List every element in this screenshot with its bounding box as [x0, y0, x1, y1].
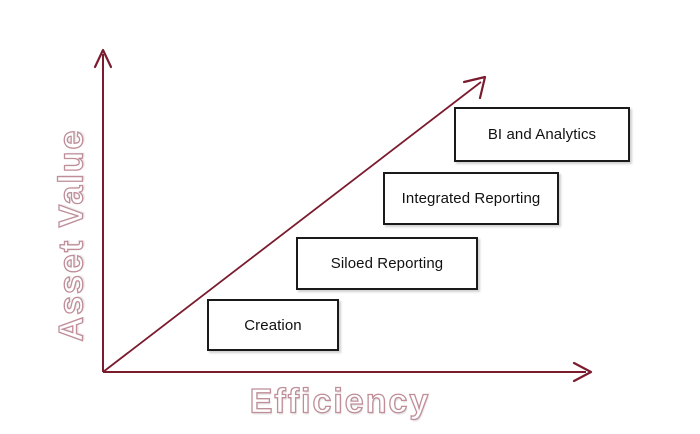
stage-label: Creation	[244, 317, 302, 334]
stage-box-creation[interactable]: Creation	[207, 299, 339, 351]
stage-label: Siloed Reporting	[331, 255, 444, 272]
diagram-canvas: Asset Value Efficiency Creation Siloed R…	[0, 0, 700, 434]
stage-label: BI and Analytics	[488, 126, 596, 143]
stage-box-bi-and-analytics[interactable]: BI and Analytics	[454, 107, 630, 162]
stage-label: Integrated Reporting	[402, 190, 541, 207]
x-axis-title: Efficiency	[250, 383, 431, 422]
stage-box-integrated-reporting[interactable]: Integrated Reporting	[383, 172, 559, 225]
axes-and-trend-arrow	[0, 0, 700, 434]
y-axis-title: Asset Value	[53, 129, 92, 342]
stage-box-siloed-reporting[interactable]: Siloed Reporting	[296, 237, 478, 290]
